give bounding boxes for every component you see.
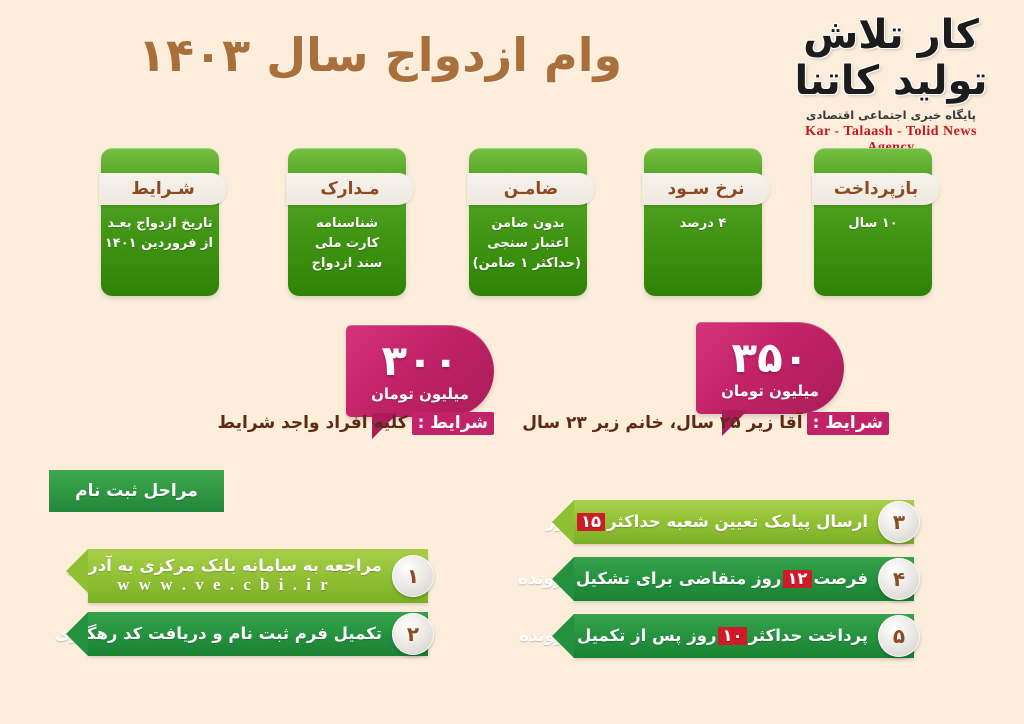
- step-highlight-number: ۱۲: [783, 570, 811, 589]
- amount-value: ۳۵۰: [732, 338, 809, 378]
- step-item-3: ارسال پیامک تعیین شعبه حداکثر۱۵روز ۳: [574, 500, 914, 544]
- step-text: ارسال پیامک تعیین شعبه حداکثر۱۵روز: [546, 513, 868, 532]
- amount-value: ۳۰۰: [382, 341, 459, 381]
- feature-card-line: از فروردین ۱۴۰۱: [107, 234, 213, 254]
- feature-card-madarek: شناسنامه کارت ملی سند ازدواج مـدارک: [288, 148, 406, 296]
- step-number-badge: ۵: [878, 615, 920, 657]
- logo-subtitle-fa: پایگاه خبری اجتماعی اقتصادی: [780, 108, 1002, 122]
- feature-card-body: شناسنامه کارت ملی سند ازدواج: [294, 214, 400, 274]
- step-text-main: تکمیل فرم ثبت نام و دریافت کد رهگیری: [55, 624, 382, 643]
- step-number-badge: ۳: [878, 501, 920, 543]
- step-url[interactable]: w w w . v e . c b i . i r: [65, 575, 382, 595]
- step-text-tail: روز پس از تکمیل پرونده: [519, 626, 716, 645]
- feature-card-line: سند ازدواج: [294, 254, 400, 274]
- step-text-main: ارسال پیامک تعیین شعبه حداکثر: [607, 512, 868, 531]
- step-bar: فرصت۱۲روز متقاضی برای تشکیل پرونده: [574, 557, 914, 601]
- step-text: تکمیل فرم ثبت نام و دریافت کد رهگیری: [55, 625, 382, 644]
- step-item-1: مراجعه به سامانه بانک مرکزی به آدرس w w …: [88, 549, 428, 593]
- feature-card-body: بدون ضامن اعتبار سنجی (حداکثر ۱ ضامن): [475, 214, 581, 274]
- step-text-tail: روز متقاضی برای تشکیل پرونده: [518, 569, 781, 588]
- step-item-2: تکمیل فرم ثبت نام و دریافت کد رهگیری ۲: [88, 612, 428, 656]
- amount-bubble-shape: ۳۵۰ میلیون تومان: [696, 322, 844, 414]
- step-text: مراجعه به سامانه بانک مرکزی به آدرس w w …: [65, 557, 382, 595]
- feature-card-label: بازپرداخت: [812, 173, 940, 205]
- step-bar: مراجعه به سامانه بانک مرکزی به آدرس w w …: [88, 549, 428, 603]
- step-number-badge: ۲: [392, 613, 434, 655]
- step-number-badge: ۴: [878, 558, 920, 600]
- step-text-main: پرداخت حداکثر: [749, 626, 868, 645]
- step-item-5: پرداخت حداکثر۱۰روز پس از تکمیل پرونده ۵: [574, 614, 914, 658]
- amount-unit: میلیون تومان: [371, 385, 469, 403]
- step-number-badge: ۱: [392, 555, 434, 597]
- condition-key: شرایط :: [807, 412, 889, 435]
- amount-unit: میلیون تومان: [721, 382, 819, 400]
- step-text-main: فرصت: [814, 569, 868, 588]
- feature-card-body: ۱۰ سال: [820, 214, 926, 234]
- steps-header-banner: مراحل ثبت نام: [49, 470, 224, 512]
- feature-card-sharayet: تاریخ ازدواج بعـد از فروردین ۱۴۰۱ شـرایط: [101, 148, 219, 296]
- feature-card-body: ۴ درصد: [650, 214, 756, 234]
- amount-condition-350: شرایط :آقا زیر ۲۵ سال، خانم زیر ۲۳ سال: [522, 412, 889, 435]
- feature-card-label: مـدارک: [286, 173, 414, 205]
- feature-cards-row: تاریخ ازدواج بعـد از فروردین ۱۴۰۱ شـرایط…: [0, 148, 1024, 308]
- amount-condition-300: شرایط :کلیه افراد واجد شرایط: [217, 412, 494, 435]
- steps-section-header: مراحل ثبت نام: [49, 470, 224, 512]
- logo-wordmark-text: کار تلاش تولید کاتنا: [794, 12, 987, 104]
- step-text: فرصت۱۲روز متقاضی برای تشکیل پرونده: [518, 570, 868, 589]
- feature-card-zamen: بدون ضامن اعتبار سنجی (حداکثر ۱ ضامن) ضا…: [469, 148, 587, 296]
- amount-bubble-300: ۳۰۰ میلیون تومان: [346, 325, 494, 417]
- feature-card-line: تاریخ ازدواج بعـد: [107, 214, 213, 234]
- page-title: وام ازدواج سال ۱۴۰۳: [0, 28, 760, 82]
- step-bar: پرداخت حداکثر۱۰روز پس از تکمیل پرونده: [574, 614, 914, 658]
- condition-value: کلیه افراد واجد شرایط: [217, 413, 407, 433]
- condition-value: آقا زیر ۲۵ سال، خانم زیر ۲۳ سال: [522, 413, 802, 433]
- feature-card-line: بدون ضامن: [475, 214, 581, 234]
- step-text-tail: روز: [546, 512, 575, 531]
- feature-card-nerkh-sood: ۴ درصد نرخ سـود: [644, 148, 762, 296]
- feature-card-bazpardakht: ۱۰ سال بازپرداخت: [814, 148, 932, 296]
- feature-card-line: (حداکثر ۱ ضامن): [475, 254, 581, 274]
- step-bar: ارسال پیامک تعیین شعبه حداکثر۱۵روز: [574, 500, 914, 544]
- feature-card-label: شـرایط: [99, 173, 227, 205]
- feature-card-line: ۱۰ سال: [820, 214, 926, 234]
- feature-card-line: اعتبار سنجی: [475, 234, 581, 254]
- brand-logo: کار تلاش تولید کاتنا پایگاه خبری اجتماعی…: [780, 12, 1002, 156]
- amount-bubble-350: ۳۵۰ میلیون تومان: [696, 322, 844, 414]
- step-text: پرداخت حداکثر۱۰روز پس از تکمیل پرونده: [519, 627, 868, 646]
- feature-card-line: ۴ درصد: [650, 214, 756, 234]
- steps-header-label: مراحل ثبت نام: [75, 481, 198, 501]
- step-text-main: مراجعه به سامانه بانک مرکزی به آدرس: [65, 556, 382, 575]
- feature-card-label: ضامـن: [467, 173, 595, 205]
- feature-card-label: نرخ سـود: [642, 173, 770, 205]
- infographic-page: وام ازدواج سال ۱۴۰۳ کار تلاش تولید کاتنا…: [0, 0, 1024, 724]
- step-highlight-number: ۱۰: [718, 627, 746, 646]
- feature-card-body: تاریخ ازدواج بعـد از فروردین ۱۴۰۱: [107, 214, 213, 254]
- step-highlight-number: ۱۵: [577, 513, 605, 532]
- condition-key: شرایط :: [412, 412, 494, 435]
- step-bar: تکمیل فرم ثبت نام و دریافت کد رهگیری: [88, 612, 428, 656]
- logo-wordmark: کار تلاش تولید کاتنا: [780, 12, 1002, 104]
- amount-bubble-shape: ۳۰۰ میلیون تومان: [346, 325, 494, 417]
- step-item-4: فرصت۱۲روز متقاضی برای تشکیل پرونده ۴: [574, 557, 914, 601]
- feature-card-line: شناسنامه: [294, 214, 400, 234]
- feature-card-line: کارت ملی: [294, 234, 400, 254]
